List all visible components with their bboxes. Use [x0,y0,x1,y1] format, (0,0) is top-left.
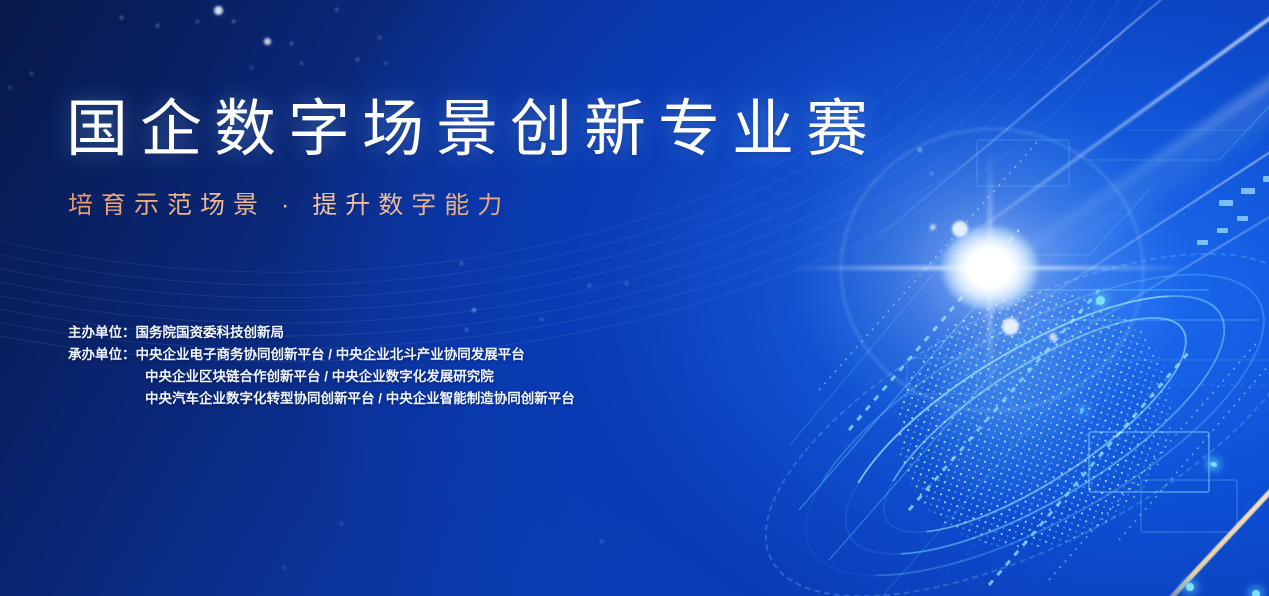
organizer-line-co-host-2: 中央企业区块链合作创新平台 / 中央企业数字化发展研究院 [68,366,575,388]
organizer-line-co-host-1: 承办单位：中央企业电子商务协同创新平台 / 中央企业北斗产业协同发展平台 [68,344,575,366]
poster-banner: 国企数字场景创新专业赛 培育示范场景 · 提升数字能力 主办单位：国务院国资委科… [0,0,1269,596]
organizer-block: 主办单位：国务院国资委科技创新局 承办单位：中央企业电子商务协同创新平台 / 中… [68,322,575,410]
poster-subtitle: 培育示范场景 · 提升数字能力 [68,193,510,218]
organizer-line-host: 主办单位：国务院国资委科技创新局 [68,322,575,344]
poster-content: 国企数字场景创新专业赛 培育示范场景 · 提升数字能力 主办单位：国务院国资委科… [0,0,1269,596]
poster-title: 国企数字场景创新专业赛 [66,99,880,161]
organizer-line-co-host-3: 中央汽车企业数字化转型协同创新平台 / 中央企业智能制造协同创新平台 [68,388,575,410]
